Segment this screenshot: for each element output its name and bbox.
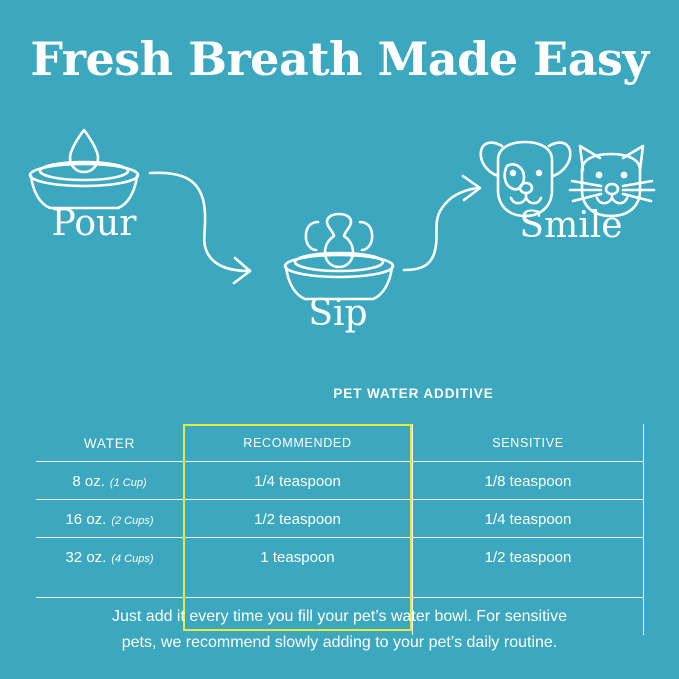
table-row: 8 oz.(1 Cup) 1/4 teaspoon 1/8 teaspoon [36, 462, 644, 500]
curved-arrow-up-right-icon [404, 176, 480, 270]
pet-water-additive-header: PET WATER ADDITIVE [183, 386, 644, 401]
cell-recommended-dose: 1 teaspoon [183, 538, 412, 576]
water-cups: (4 Cups) [111, 553, 153, 565]
step-label-pour: Pour [14, 206, 174, 242]
process-diagram: Pour Sip Smile [0, 118, 679, 348]
footer-line-1: Just add it every time you fill your pet… [38, 604, 641, 630]
cell-sensitive-dose: 1/8 teaspoon [412, 462, 644, 500]
water-cups: (1 Cup) [110, 477, 147, 489]
column-header-recommended: RECOMMENDED [183, 424, 412, 462]
step-label-smile: Smile [486, 208, 656, 244]
footer-line-2: pets, we recommend slowly adding to your… [38, 630, 641, 656]
page-title: Fresh Breath Made Easy [0, 36, 679, 82]
water-cups: (2 Cups) [111, 515, 153, 527]
pet-drinking-from-bowl-icon [285, 214, 393, 299]
cell-sensitive-dose: 1/4 teaspoon [412, 500, 644, 538]
water-volume: 8 oz. [72, 473, 105, 490]
step-label-sip: Sip [258, 296, 418, 332]
table-rule-row3-bottom [36, 597, 644, 598]
table-row: 32 oz.(4 Cups) 1 teaspoon 1/2 teaspoon [36, 538, 644, 576]
cell-water-amount: 8 oz.(1 Cup) [36, 462, 183, 500]
cell-recommended-dose: 1/2 teaspoon [183, 500, 412, 538]
table-header-row: WATER RECOMMENDED SENSITIVE [36, 424, 644, 462]
water-bowl-with-droplet-icon [30, 130, 138, 208]
cell-sensitive-dose: 1/2 teaspoon [412, 538, 644, 576]
cell-water-amount: 16 oz.(2 Cups) [36, 500, 183, 538]
dosing-table: WATER RECOMMENDED SENSITIVE 8 oz.(1 Cup)… [36, 424, 644, 576]
cell-water-amount: 32 oz.(4 Cups) [36, 538, 183, 576]
table-row: 16 oz.(2 Cups) 1/2 teaspoon 1/4 teaspoon [36, 500, 644, 538]
column-header-water: WATER [36, 424, 183, 462]
infographic-root: Fresh Breath Made Easy [0, 0, 679, 679]
water-volume: 16 oz. [65, 511, 106, 528]
cell-recommended-dose: 1/4 teaspoon [183, 462, 412, 500]
water-volume: 32 oz. [65, 549, 106, 566]
column-header-sensitive: SENSITIVE [412, 424, 644, 462]
footer-note: Just add it every time you fill your pet… [0, 604, 679, 656]
